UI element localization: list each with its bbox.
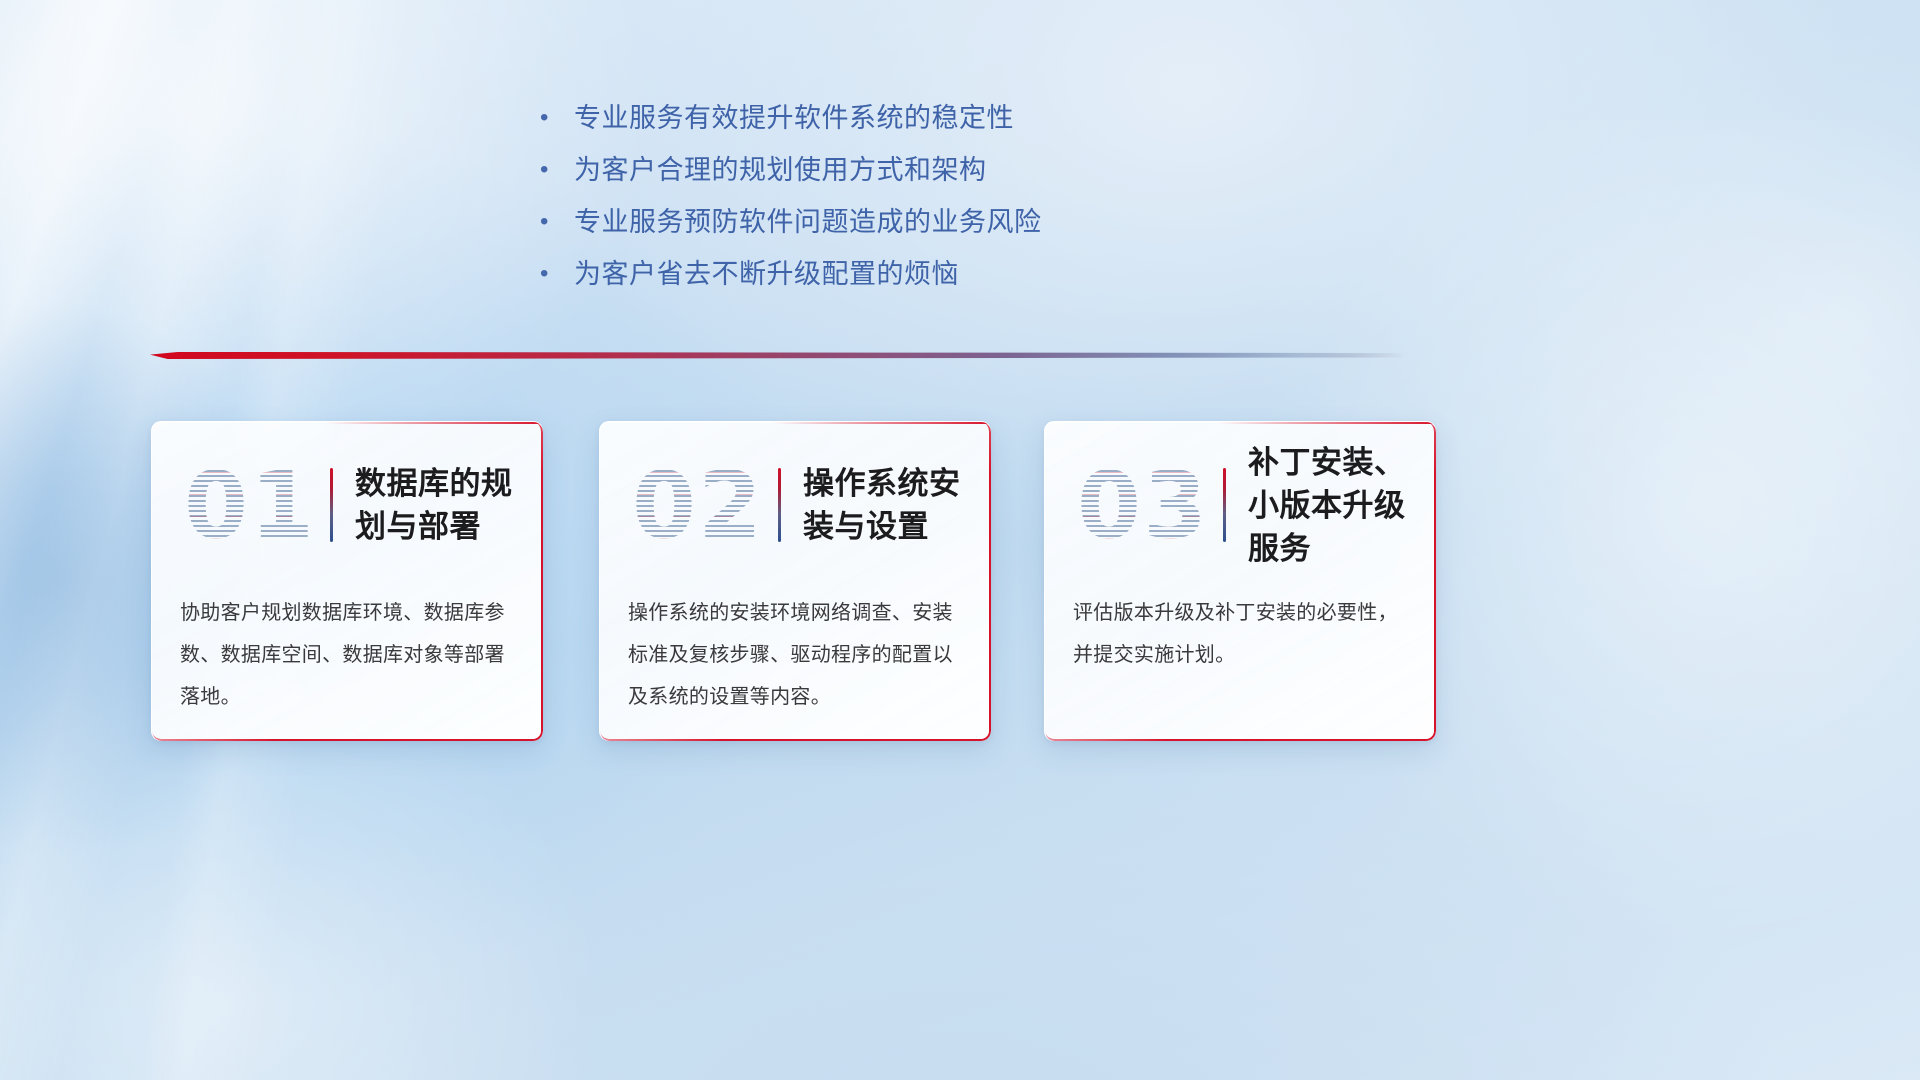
card-header: 02 02 操作系统安装与设置 — [600, 440, 991, 570]
card-number-watermark: 03 03 — [1067, 450, 1219, 560]
card-description: 协助客户规划数据库环境、数据库参数、数据库空间、数据库对象等部署落地。 — [180, 592, 519, 718]
service-card-01[interactable]: 01 01 数据库的规划与部署 协助客户规划数据库环境、数据库参数、数据库空间、… — [151, 421, 543, 741]
card-top-accent-line — [152, 422, 543, 424]
bullet-dot-icon: • — [540, 144, 574, 196]
card-header: 03 03 补丁安装、小版本升级服务 — [1045, 440, 1436, 570]
service-card-02[interactable]: 02 02 操作系统安装与设置 操作系统的安装环境网络调查、安装标准及复核步骤、… — [599, 421, 991, 741]
card-number-red-tint: 02 — [622, 450, 774, 560]
card-number-red-tint: 01 — [174, 450, 326, 560]
section-divider — [150, 348, 1405, 364]
bullet-dot-icon: • — [540, 248, 574, 300]
list-item: • 为客户省去不断升级配置的烦恼 — [540, 248, 1180, 300]
card-description: 操作系统的安装环境网络调查、安装标准及复核步骤、驱动程序的配置以及系统的设置等内… — [628, 592, 967, 718]
card-title-separator-bar — [778, 468, 781, 542]
bullet-text: 专业服务预防软件问题造成的业务风险 — [574, 196, 1180, 248]
card-title-separator-bar — [330, 468, 333, 542]
list-item: • 专业服务预防软件问题造成的业务风险 — [540, 196, 1180, 248]
card-title: 操作系统安装与设置 — [803, 462, 991, 548]
card-title: 补丁安装、小版本升级服务 — [1248, 441, 1436, 570]
card-number-watermark: 02 02 — [622, 450, 774, 560]
card-number-watermark: 01 01 — [174, 450, 326, 560]
bullet-text: 为客户合理的规划使用方式和架构 — [574, 144, 1180, 196]
card-title-separator-bar — [1223, 468, 1226, 542]
list-item: • 为客户合理的规划使用方式和架构 — [540, 144, 1180, 196]
card-description: 评估版本升级及补丁安装的必要性，并提交实施计划。 — [1073, 592, 1412, 676]
service-card-03[interactable]: 03 03 补丁安装、小版本升级服务 评估版本升级及补丁安装的必要性，并提交实施… — [1044, 421, 1436, 741]
card-number-red-tint: 03 — [1067, 450, 1219, 560]
service-card-group: 01 01 数据库的规划与部署 协助客户规划数据库环境、数据库参数、数据库空间、… — [151, 421, 1451, 741]
card-top-accent-line — [1045, 422, 1436, 424]
card-title: 数据库的规划与部署 — [355, 462, 543, 548]
list-item: • 专业服务有效提升软件系统的稳定性 — [540, 92, 1180, 144]
benefits-bullet-list: • 专业服务有效提升软件系统的稳定性 • 为客户合理的规划使用方式和架构 • 专… — [540, 92, 1180, 300]
card-header: 01 01 数据库的规划与部署 — [152, 440, 543, 570]
card-top-accent-line — [600, 422, 991, 424]
divider-red-gradient-bar — [150, 352, 1405, 359]
bullet-text: 为客户省去不断升级配置的烦恼 — [574, 248, 1180, 300]
bullet-text: 专业服务有效提升软件系统的稳定性 — [574, 92, 1180, 144]
bullet-dot-icon: • — [540, 92, 574, 144]
bullet-dot-icon: • — [540, 196, 574, 248]
